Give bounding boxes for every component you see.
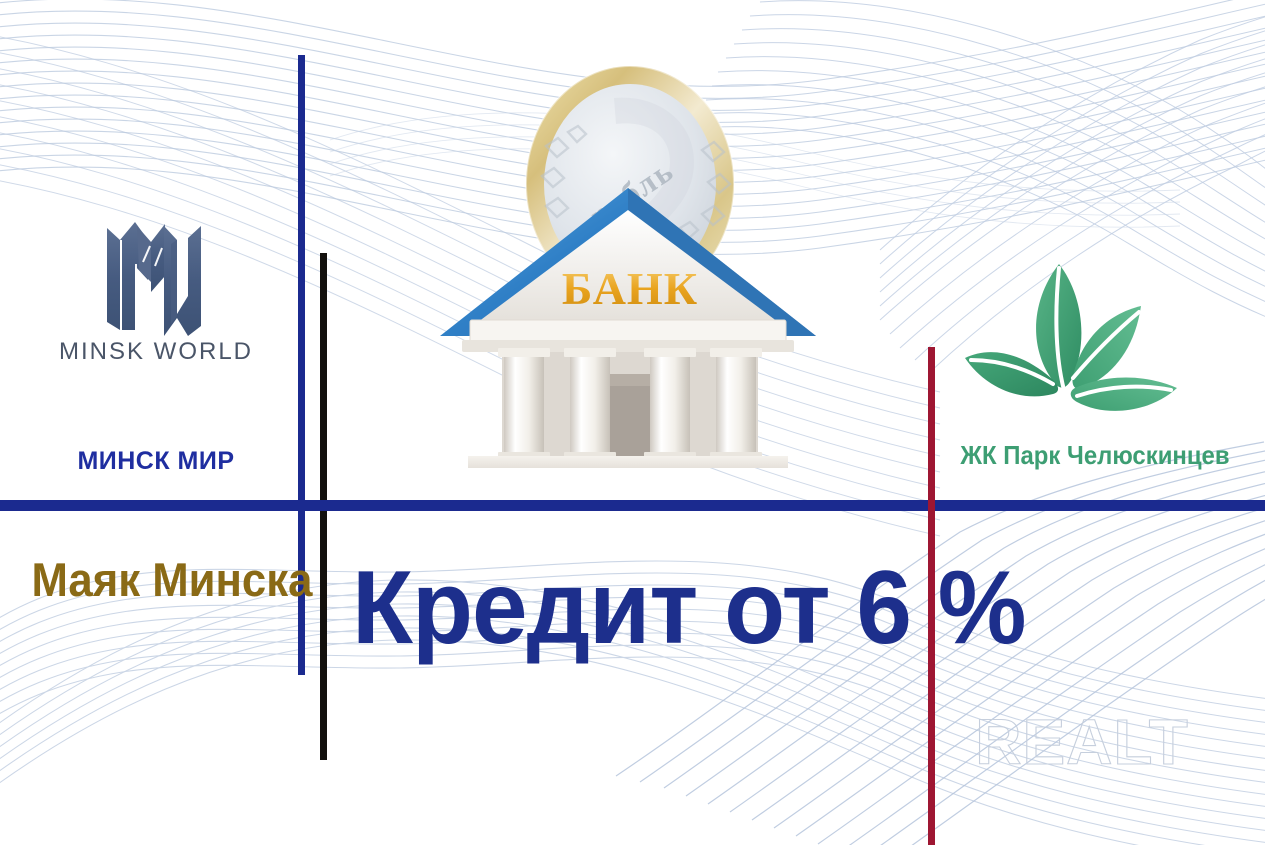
mw-monogram-icon — [93, 218, 218, 338]
park-chelyuskintsev-label: ЖК Парк Челюскинцев — [943, 440, 1247, 471]
banner-canvas: MINSK WORLD МИНСК МИР Маяк Минска — [0, 0, 1265, 845]
bank-pediment-text: БАНК — [562, 263, 698, 314]
realt-watermark: REALT — [948, 706, 1216, 782]
minsk-world-wordmark: MINSK WORLD — [36, 338, 276, 366]
bank-base — [446, 456, 810, 468]
bank-building-icon: рубль БАНК — [418, 58, 838, 468]
minsk-mir-label: МИНСК МИР — [26, 447, 286, 476]
page-title: Кредит от 6 % — [352, 556, 909, 660]
divider-horizontal-blue — [0, 500, 1265, 511]
mayak-minska-label: Маяк Минска — [31, 552, 282, 607]
green-leaf-icon — [955, 248, 1190, 433]
watermark-text: REALT — [975, 706, 1189, 778]
